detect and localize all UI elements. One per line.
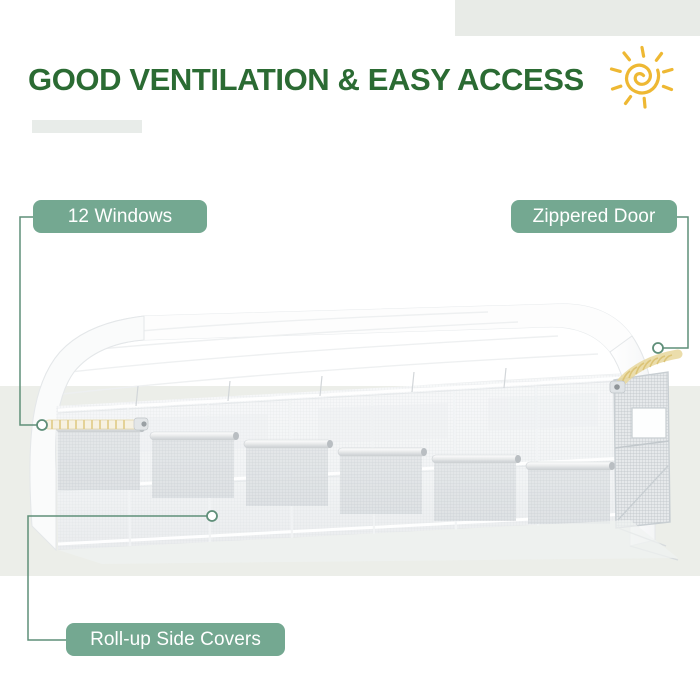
callout-label-windows: 12 Windows: [68, 206, 173, 228]
callout-badge-windows[interactable]: 12 Windows: [33, 200, 207, 233]
callout-label-door: Zippered Door: [533, 206, 656, 228]
top-right-grey-block: [455, 0, 700, 36]
callout-badge-door[interactable]: Zippered Door: [511, 200, 677, 233]
title-accent-bar: [32, 120, 142, 133]
greenhouse-illustration: [18, 288, 688, 566]
page-title: GOOD VENTILATION & EASY ACCESS: [28, 62, 584, 98]
infographic-canvas: GOOD VENTILATION & EASY ACCESS: [0, 0, 700, 700]
sun-spiral-icon: [598, 32, 682, 116]
callout-label-rollup: Roll-up Side Covers: [90, 629, 261, 651]
left-zipper: [44, 418, 148, 430]
callout-badge-rollup[interactable]: Roll-up Side Covers: [66, 623, 285, 656]
